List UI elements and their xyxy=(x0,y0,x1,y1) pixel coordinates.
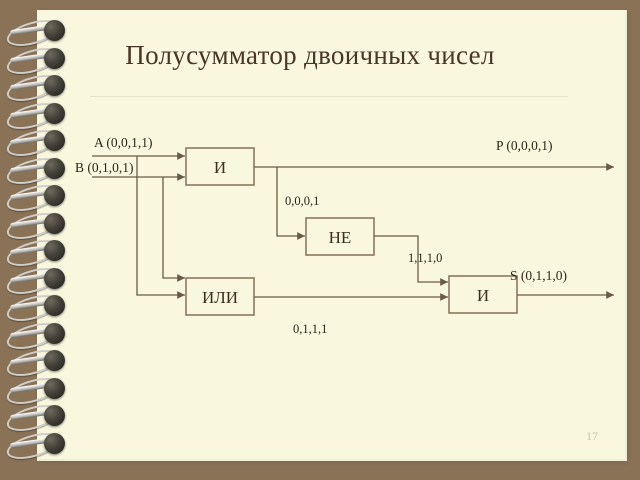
gate-and-2-label: И xyxy=(477,286,489,305)
label-signal-not-out: 1,1,1,0 xyxy=(408,251,442,265)
label-input-a: A (0,0,1,1) xyxy=(94,135,153,150)
gate-not-1-label: НЕ xyxy=(329,228,352,247)
logic-circuit-diagram: И НЕ ИЛИ И A (0,0,1,1) B (0,1,0,1) P (0,… xyxy=(37,10,625,459)
label-signal-or-out: 0,1,1,1 xyxy=(293,322,327,336)
page-number: 17 xyxy=(586,429,598,444)
label-output-p: P (0,0,0,1) xyxy=(496,138,553,153)
wire-b-branch-to-or xyxy=(163,177,185,278)
label-input-b: B (0,1,0,1) xyxy=(75,160,134,175)
slide-canvas: Полусумматор двоичных чисел И НЕ xyxy=(0,0,640,480)
label-output-s: S (0,1,1,0) xyxy=(510,268,567,283)
gate-and-1-label: И xyxy=(214,158,226,177)
gate-or-1-label: ИЛИ xyxy=(202,288,238,307)
label-signal-and1-out: 0,0,0,1 xyxy=(285,194,319,208)
